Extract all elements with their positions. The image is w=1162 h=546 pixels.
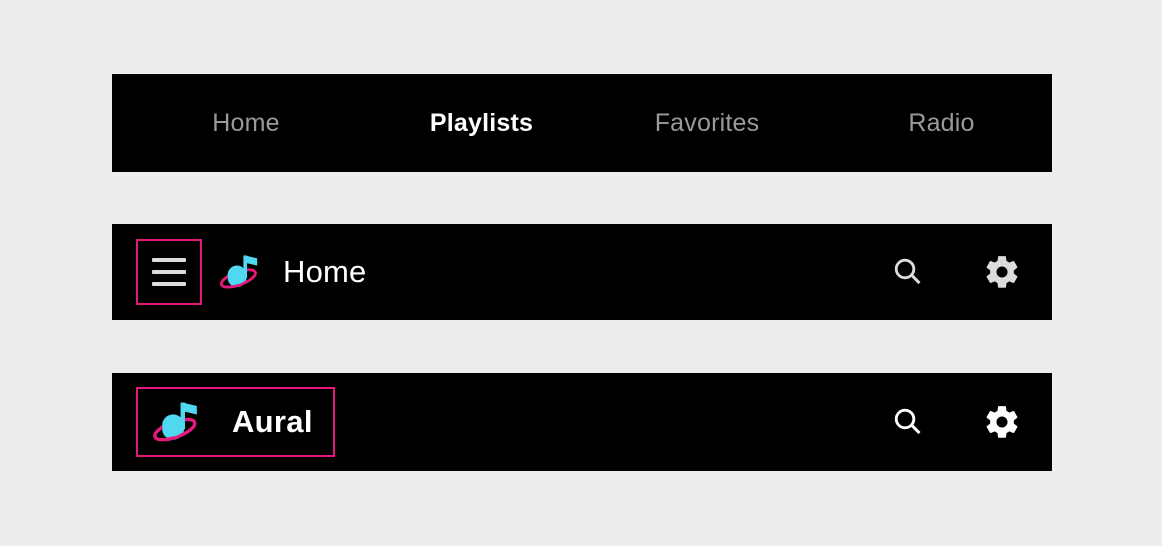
brand-app-bar: Aural — [112, 373, 1052, 471]
hamburger-line — [152, 282, 186, 286]
search-icon — [890, 404, 926, 440]
brand-app-bar-leading: Aural — [136, 387, 335, 457]
tab-radio-label: Radio — [908, 109, 974, 138]
hamburger-line — [152, 270, 186, 274]
tab-home[interactable]: Home — [112, 74, 380, 172]
tab-home-label: Home — [212, 109, 280, 138]
gear-icon — [983, 403, 1021, 441]
primary-app-bar-leading: Home — [136, 239, 367, 305]
tab-playlists-label: Playlists — [430, 109, 533, 138]
tab-radio[interactable]: Radio — [831, 74, 1052, 172]
search-button[interactable] — [884, 248, 932, 296]
settings-button[interactable] — [978, 248, 1026, 296]
tab-navigation-bar: Home Playlists Favorites Radio — [112, 74, 1052, 172]
hamburger-line — [152, 258, 186, 262]
primary-app-bar: Home — [112, 224, 1052, 320]
primary-app-bar-content: Home — [112, 224, 1052, 320]
aural-planet-note-logo-icon — [219, 249, 265, 295]
app-canvas: Home Playlists Favorites Radio — [0, 0, 1162, 546]
tab-favorites-label: Favorites — [655, 109, 760, 138]
brand-app-bar-content: Aural — [112, 373, 1052, 471]
gear-icon — [983, 253, 1021, 291]
primary-app-bar-actions — [884, 248, 1026, 296]
settings-button[interactable] — [978, 398, 1026, 446]
hamburger-menu-icon[interactable] — [136, 239, 202, 305]
tab-playlists[interactable]: Playlists — [380, 74, 583, 172]
tab-list: Home Playlists Favorites Radio — [112, 74, 1052, 172]
brand-app-bar-actions — [884, 398, 1026, 446]
aural-planet-note-logo-icon — [152, 395, 206, 449]
search-button[interactable] — [884, 398, 932, 446]
brand-button[interactable]: Aural — [136, 387, 335, 457]
page-title: Home — [283, 254, 367, 290]
brand-name-label: Aural — [232, 404, 313, 440]
tab-favorites[interactable]: Favorites — [583, 74, 831, 172]
search-icon — [890, 254, 926, 290]
